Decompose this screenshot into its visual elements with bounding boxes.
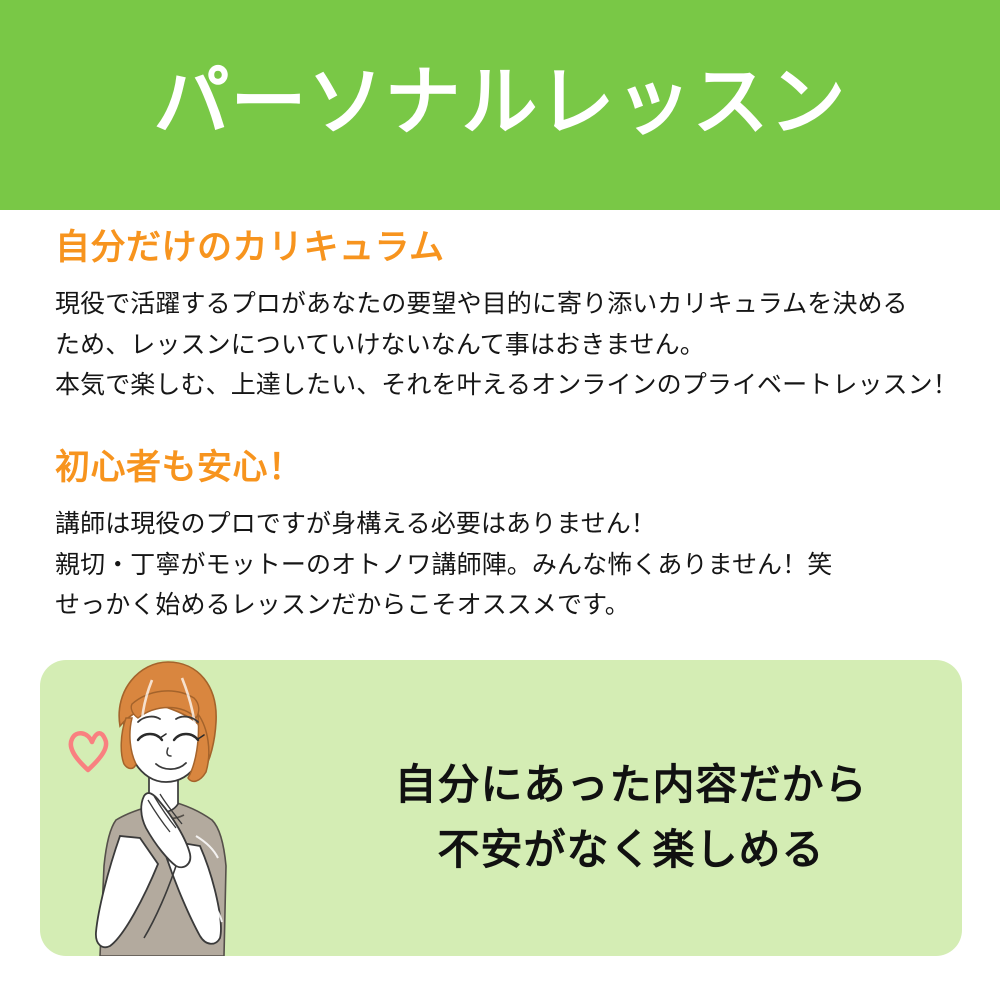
body-line: ため、レッスンについていけないなんて事はおきません。	[55, 325, 955, 366]
callout-message: 自分にあった内容だから 不安がなく楽しめる	[330, 752, 932, 882]
callout-line: 不安がなく楽しめる	[330, 817, 932, 882]
header-banner: パーソナルレッスン	[0, 0, 1000, 210]
body-line: 講師は現役のプロですが身構える必要はありません！	[55, 504, 955, 545]
heart-icon	[71, 733, 106, 770]
section-heading-beginners: 初心者も安心！	[55, 448, 955, 488]
poster-page: パーソナルレッスン 自分だけのカリキュラム 現役で活躍するプロがあなたの要望や目…	[0, 0, 1000, 1000]
page-title: パーソナルレッスン	[154, 65, 847, 141]
body-line: 本気で楽しむ、上達したい、それを叶えるオンラインのプライベートレッスン！	[55, 365, 955, 406]
section-body-beginners: 講師は現役のプロですが身構える必要はありません！ 親切・丁寧がモットーのオトノワ…	[55, 504, 955, 626]
callout-box: 自分にあった内容だから 不安がなく楽しめる	[40, 660, 962, 956]
section-divider-space	[55, 406, 955, 448]
section-body-curriculum: 現役で活躍するプロがあなたの要望や目的に寄り添いカリキュラムを決める ため、レッ…	[55, 284, 955, 406]
section-curriculum: 自分だけのカリキュラム 現役で活躍するプロがあなたの要望や目的に寄り添いカリキュ…	[55, 228, 955, 406]
woman-illustration	[48, 660, 308, 956]
body-line: 現役で活躍するプロがあなたの要望や目的に寄り添いカリキュラムを決める	[55, 284, 955, 325]
body-line: せっかく始めるレッスンだからこそオススメです。	[55, 585, 955, 626]
section-beginners: 初心者も安心！ 講師は現役のプロですが身構える必要はありません！ 親切・丁寧がモ…	[55, 448, 955, 626]
callout-line: 自分にあった内容だから	[330, 752, 932, 817]
section-heading-curriculum: 自分だけのカリキュラム	[55, 228, 955, 268]
content-area: 自分だけのカリキュラム 現役で活躍するプロがあなたの要望や目的に寄り添いカリキュ…	[55, 228, 955, 626]
body-line: 親切・丁寧がモットーのオトノワ講師陣。みんな怖くありません！笑	[55, 545, 955, 586]
